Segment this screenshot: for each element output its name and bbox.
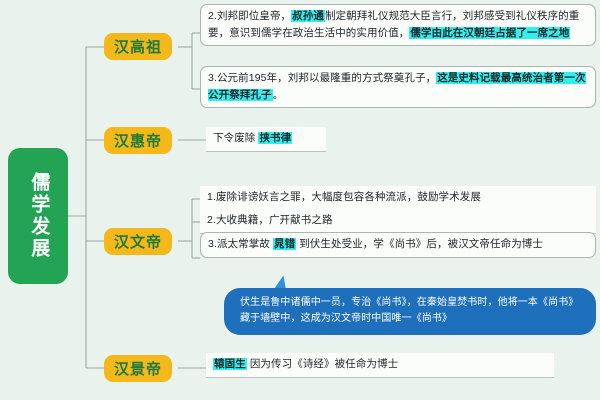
highlighted-term: 晁错 bbox=[273, 238, 296, 250]
highlighted-term: 辕固生 bbox=[213, 358, 247, 370]
leaf-text: 3.公元前195年，刘邦以最隆重的方式祭奠孔子， bbox=[208, 72, 436, 84]
leaf-gaozu-3: 3.公元前195年，刘邦以最隆重的方式祭奠孔子，这是史料记载最高统治者第一次公开… bbox=[200, 66, 596, 108]
branch-node-han-jingdi[interactable]: 汉景帝 bbox=[104, 355, 172, 382]
leaf-text: 因为传习《诗经》被任命为博士 bbox=[247, 358, 398, 370]
highlighted-term: 叔孙通 bbox=[291, 10, 325, 22]
leaf-gaozu-2: 2.刘邦即位皇帝，叔孙通制定朝拜礼仪规范大臣言行，刘邦感受到礼仪秩序的重要，意识… bbox=[200, 4, 596, 46]
leaf-text: 1.废除诽谤妖言之罪，大幅度包容各种流派，鼓励学术发展 bbox=[207, 191, 481, 203]
leaf-text: 2.大收典籍，广开献书之路 bbox=[207, 214, 333, 226]
leaf-text: 下令废除 bbox=[213, 132, 258, 144]
branch-node-han-wendi[interactable]: 汉文帝 bbox=[104, 228, 172, 255]
branch-node-label: 汉景帝 bbox=[114, 358, 162, 379]
leaf-jingdi-1: 辕固生 因为传习《诗经》被任命为博士 bbox=[206, 353, 554, 378]
callout-fusheng-note: 伏生是鲁中诸儒中一员，专治《尚书》，在秦始皇焚书时，他将一本《尚书》藏于墙壁中，… bbox=[224, 288, 596, 335]
branch-node-han-gaozu[interactable]: 汉高祖 bbox=[104, 33, 172, 60]
branch-node-label: 汉高祖 bbox=[114, 36, 162, 57]
highlighted-term: 儒学由此在汉朝廷占据了一席之地 bbox=[409, 27, 570, 39]
root-node-label: 儒学发展 bbox=[26, 172, 51, 260]
branch-node-han-huidi[interactable]: 汉惠帝 bbox=[104, 127, 172, 154]
leaf-wendi-3: 3.派太常掌故 晁错 到伏生处受业，学《尚书》后，被汉文帝任命为博士 bbox=[200, 232, 596, 258]
leaf-text: 2.刘邦即位皇帝， bbox=[208, 10, 291, 22]
leaf-wendi-1: 1.废除诽谤妖言之罪，大幅度包容各种流派，鼓励学术发展 bbox=[200, 186, 596, 211]
mindmap-canvas: 儒学发展 汉高祖 2.刘邦即位皇帝，叔孙通制定朝拜礼仪规范大臣言行，刘邦感受到礼… bbox=[0, 0, 600, 400]
branch-node-label: 汉文帝 bbox=[114, 231, 162, 252]
leaf-text: 到伏生处受业，学《尚书》后，被汉文帝任命为博士 bbox=[296, 238, 543, 250]
root-node[interactable]: 儒学发展 bbox=[8, 148, 68, 284]
branch-node-label: 汉惠帝 bbox=[114, 130, 162, 151]
leaf-text: 3.派太常掌故 bbox=[208, 238, 273, 250]
leaf-wendi-2: 2.大收典籍，广开献书之路 bbox=[200, 209, 596, 234]
leaf-text: 。 bbox=[273, 89, 284, 101]
leaf-huidi-1: 下令废除 挟书律 bbox=[206, 127, 326, 152]
highlighted-term: 挟书律 bbox=[258, 132, 292, 144]
